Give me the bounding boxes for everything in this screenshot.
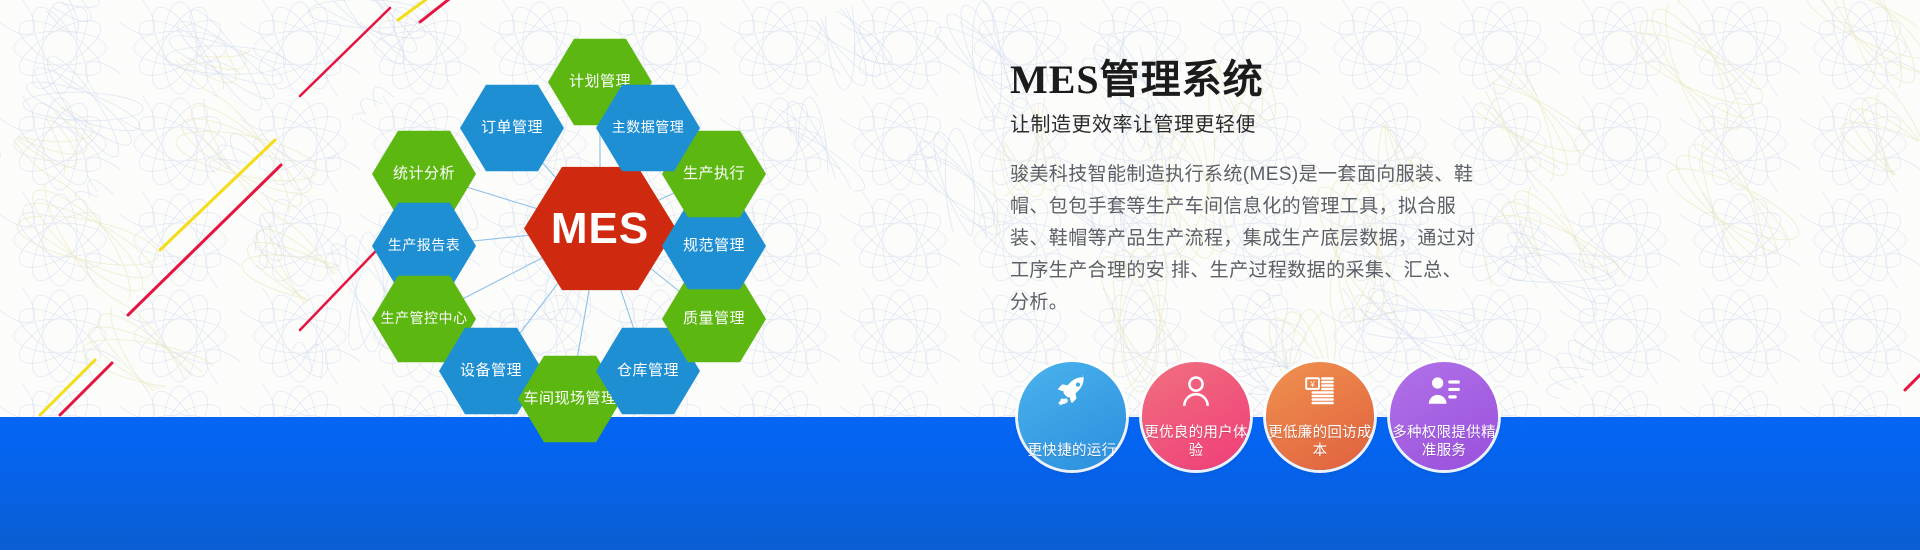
money-icon: ¥ xyxy=(1303,374,1337,408)
rocket-icon xyxy=(1055,374,1089,408)
page-title: MES管理系统 xyxy=(1010,58,1590,101)
mes-banner: MES计划管理订单管理统计分析生产报告表生产管控中心设备管理车间现场管理仓库管理… xyxy=(0,0,1920,550)
text-block: MES管理系统 让制造更效率让管理更轻便 骏美科技智能制造执行系统(MES)是一… xyxy=(1010,58,1590,319)
svg-text:¥: ¥ xyxy=(1309,379,1315,389)
user-icon xyxy=(1179,374,1213,408)
feature-badge-label: 更优良的用户体验 xyxy=(1144,424,1248,461)
feature-badge[interactable]: 更快捷的运行 xyxy=(1018,362,1126,470)
hex-node-label: 设备管理 xyxy=(456,363,526,380)
feature-badge-label: 更快捷的运行 xyxy=(1020,442,1124,461)
feature-badge[interactable]: 多种权限提供精准服务 xyxy=(1390,362,1498,470)
hex-node-label: 车间现场管理 xyxy=(519,391,620,408)
feature-badge[interactable]: ¥更低廉的回访成本 xyxy=(1266,362,1374,470)
hex-node-label: 主数据管理 xyxy=(608,120,689,136)
feature-badge-label: 多种权限提供精准服务 xyxy=(1392,424,1496,461)
user-list-icon xyxy=(1427,374,1461,408)
feature-badges: 更快捷的运行更优良的用户体验¥更低廉的回访成本多种权限提供精准服务 xyxy=(1018,362,1498,470)
hex-node-label: MES xyxy=(547,204,653,253)
page-subtitle: 让制造更效率让管理更轻便 xyxy=(1010,108,1590,137)
hex-node-label: 生产执行 xyxy=(679,166,749,183)
bottom-blue-band xyxy=(0,417,1920,550)
feature-badge[interactable]: 更优良的用户体验 xyxy=(1142,362,1250,470)
hex-node-label: 生产报告表 xyxy=(384,238,465,254)
hex-node-label: 质量管理 xyxy=(679,311,749,328)
hexagon-diagram: MES计划管理订单管理统计分析生产报告表生产管控中心设备管理车间现场管理仓库管理… xyxy=(400,20,820,440)
hex-node-label: 统计分析 xyxy=(389,166,459,183)
description-paragraph: 骏美科技智能制造执行系统(MES)是一套面向服装、鞋帽、包包手套等生产车间信息化… xyxy=(1010,159,1480,319)
hex-node-label: 订单管理 xyxy=(477,120,547,137)
hex-node-label: 规范管理 xyxy=(679,238,749,255)
feature-badge-label: 更低廉的回访成本 xyxy=(1268,424,1372,461)
hex-node-label: 生产管控中心 xyxy=(377,311,472,327)
hex-node-label: 仓库管理 xyxy=(613,363,683,380)
